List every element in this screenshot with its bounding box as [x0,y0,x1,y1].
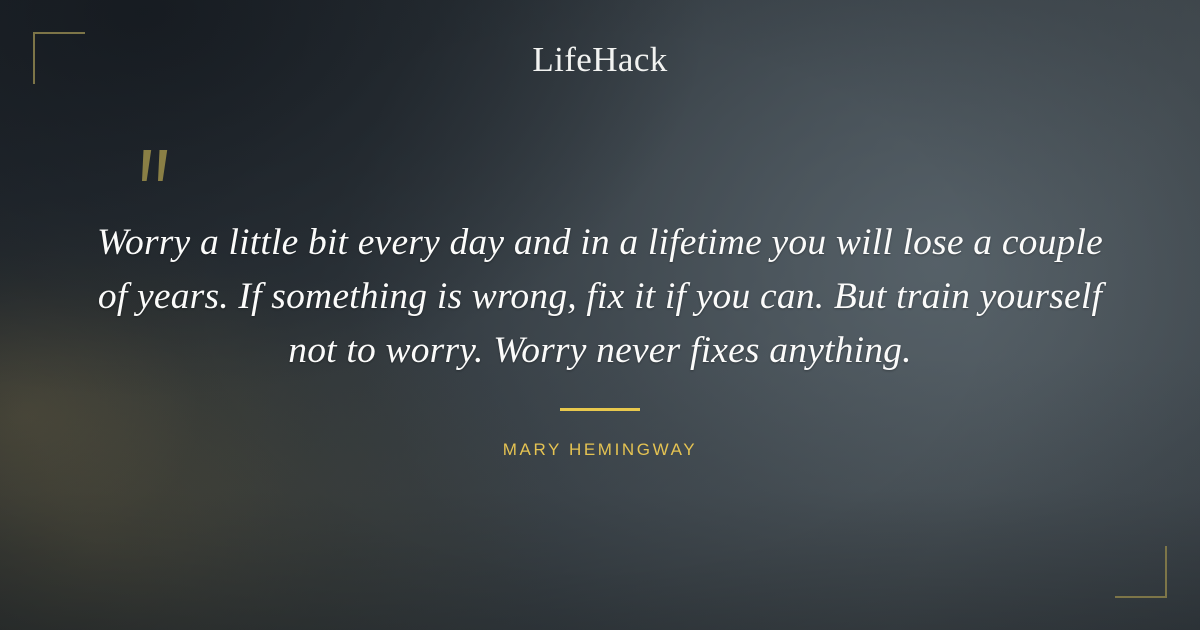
quote-card: LifeHack Worry a little bit every day an… [0,0,1200,630]
quote-author: MARY HEMINGWAY [0,440,1200,460]
gold-divider [560,408,640,411]
brand-logo: LifeHack [0,41,1200,80]
quote-open-icon [133,148,179,192]
corner-bracket-bottom-right-icon [1115,546,1167,598]
quote-text: Worry a little bit every day and in a li… [95,216,1105,378]
